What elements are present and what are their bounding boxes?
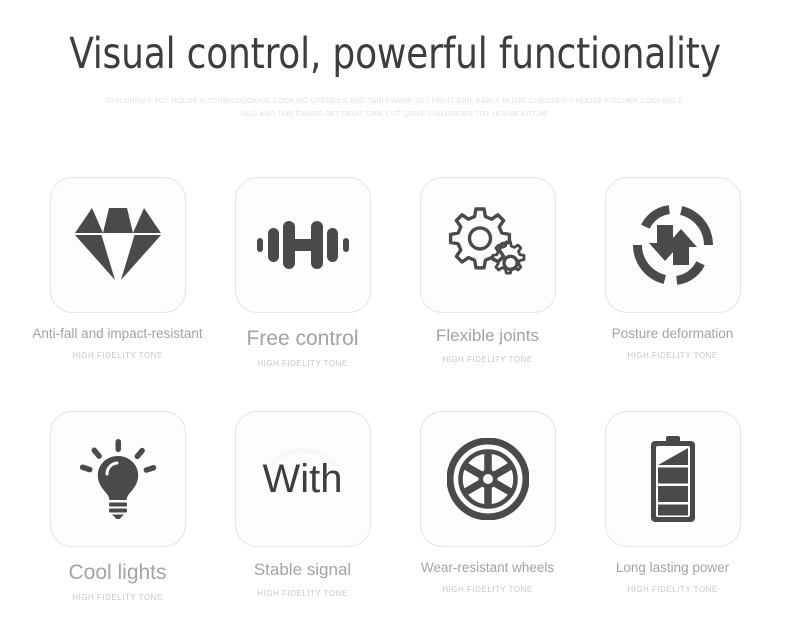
feature-subtext: HIGH FIDELITY TONE (72, 593, 162, 602)
subtitle-line-1: CHILDREN'S TOY HOUSE KITCHEN COOKING COO… (0, 94, 790, 107)
feature-item[interactable]: Flexible joints HIGH FIDELITY TONE (420, 177, 556, 368)
feature-label: Flexible joints (436, 327, 539, 346)
card-text: With (263, 459, 343, 499)
page-title: Visual control, powerful functionality (28, 30, 763, 78)
gears-icon (446, 205, 530, 285)
feature-grid-page: Visual control, powerful functionality C… (0, 0, 790, 642)
diamond-icon (75, 208, 161, 282)
rotate-arrows-icon (631, 203, 715, 287)
feature-card[interactable] (420, 411, 556, 547)
subtitle-line-2: SILS AND TABLEWARE SET FRUIT GIRL CUT QI… (0, 107, 790, 120)
feature-item[interactable]: Anti-fall and impact-resistant HIGH FIDE… (50, 177, 186, 368)
feature-card[interactable]: With (235, 411, 371, 547)
feature-card[interactable] (50, 177, 186, 313)
feature-subtext: HIGH FIDELITY TONE (442, 355, 532, 364)
battery-icon (645, 436, 701, 522)
feature-card[interactable] (420, 177, 556, 313)
feature-subtext: HIGH FIDELITY TONE (257, 589, 347, 598)
feature-item[interactable]: Long lasting power HIGH FIDELITY TONE (605, 411, 741, 602)
feature-card[interactable] (235, 177, 371, 313)
feature-card[interactable] (605, 411, 741, 547)
features-row-1: Anti-fall and impact-resistant HIGH FIDE… (0, 177, 790, 368)
feature-subtext: HIGH FIDELITY TONE (72, 351, 162, 360)
feature-label: Stable signal (254, 561, 351, 580)
feature-card[interactable] (605, 177, 741, 313)
feature-subtext: HIGH FIDELITY TONE (442, 585, 532, 594)
page-header: Visual control, powerful functionality C… (0, 0, 790, 121)
feature-item[interactable]: Wear-resistant wheels HIGH FIDELITY TONE (420, 411, 556, 602)
features-row-2: Cool lights HIGH FIDELITY TONE (0, 411, 790, 602)
feature-subtext: HIGH FIDELITY TONE (257, 359, 347, 368)
feature-card[interactable] (50, 411, 186, 547)
feature-subtext: HIGH FIDELITY TONE (627, 351, 717, 360)
dumbbell-icon (257, 218, 349, 272)
feature-label: Long lasting power (616, 561, 729, 576)
feature-item[interactable]: With Stable signal HIGH FIDELITY TONE (235, 411, 371, 602)
page-subtitle: CHILDREN'S TOY HOUSE KITCHEN COOKING COO… (0, 94, 790, 121)
feature-label: Cool lights (68, 561, 166, 584)
features-grid: Anti-fall and impact-resistant HIGH FIDE… (0, 177, 790, 602)
feature-label: Posture deformation (612, 327, 734, 342)
lightbulb-icon (78, 439, 158, 519)
feature-item[interactable]: Posture deformation HIGH FIDELITY TONE (605, 177, 741, 368)
feature-label: Free control (246, 327, 358, 350)
feature-subtext: HIGH FIDELITY TONE (627, 585, 717, 594)
feature-label: Anti-fall and impact-resistant (32, 327, 202, 342)
feature-label: Wear-resistant wheels (421, 561, 554, 576)
wheel-icon (447, 438, 529, 520)
feature-item[interactable]: Cool lights HIGH FIDELITY TONE (50, 411, 186, 602)
feature-item[interactable]: Free control HIGH FIDELITY TONE (235, 177, 371, 368)
